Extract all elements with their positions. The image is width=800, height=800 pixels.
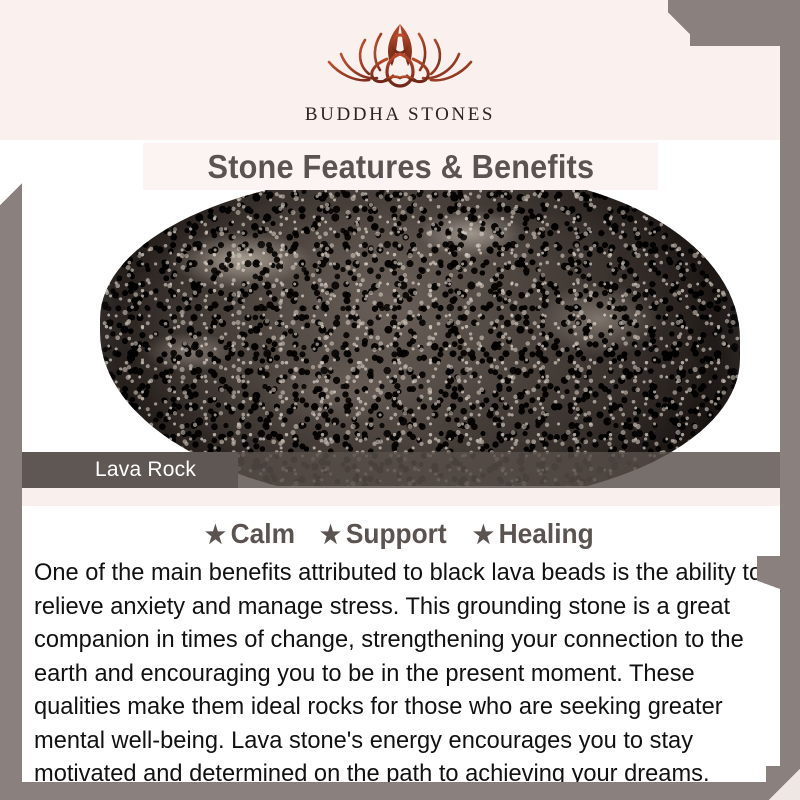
page-title: Stone Features & Benefits — [207, 148, 594, 186]
frame-left-bevel — [0, 183, 22, 207]
lotus-meditation-figure-icon — [325, 14, 475, 100]
keyword-healing-label: Healing — [499, 518, 594, 549]
frame-left — [0, 205, 22, 800]
frame-corner-bottom-right — [766, 766, 800, 800]
frame-top-strip — [690, 0, 800, 46]
stone-name-caption: Lava Rock — [95, 452, 196, 488]
lava-rock-image — [100, 190, 740, 486]
star-icon: ★ — [473, 521, 494, 549]
title-band: Stone Features & Benefits — [143, 143, 658, 191]
description-paragraph: One of the main benefits attributed to b… — [34, 556, 764, 791]
keyword-row: ★Calm ★Support ★Healing — [22, 518, 778, 550]
keyword-support: ★Support — [320, 518, 447, 550]
infographic-card: BUDDHA STONES Stone Features & Benefits … — [0, 0, 800, 800]
separator-strip — [22, 488, 800, 506]
rock-edge-overlay — [100, 190, 740, 486]
keyword-calm: ★Calm — [205, 518, 295, 550]
star-icon: ★ — [205, 521, 226, 549]
star-icon: ★ — [320, 521, 341, 549]
stone-photo — [22, 190, 800, 486]
frame-right — [780, 0, 800, 800]
keyword-healing: ★Healing — [473, 518, 594, 550]
frame-bottom — [0, 782, 800, 800]
brand-name: BUDDHA STONES — [285, 104, 515, 126]
keyword-support-label: Support — [346, 518, 447, 549]
brand-logo: BUDDHA STONES — [285, 14, 515, 126]
keyword-calm-label: Calm — [231, 518, 295, 549]
frame-corner-top-right — [668, 0, 694, 48]
